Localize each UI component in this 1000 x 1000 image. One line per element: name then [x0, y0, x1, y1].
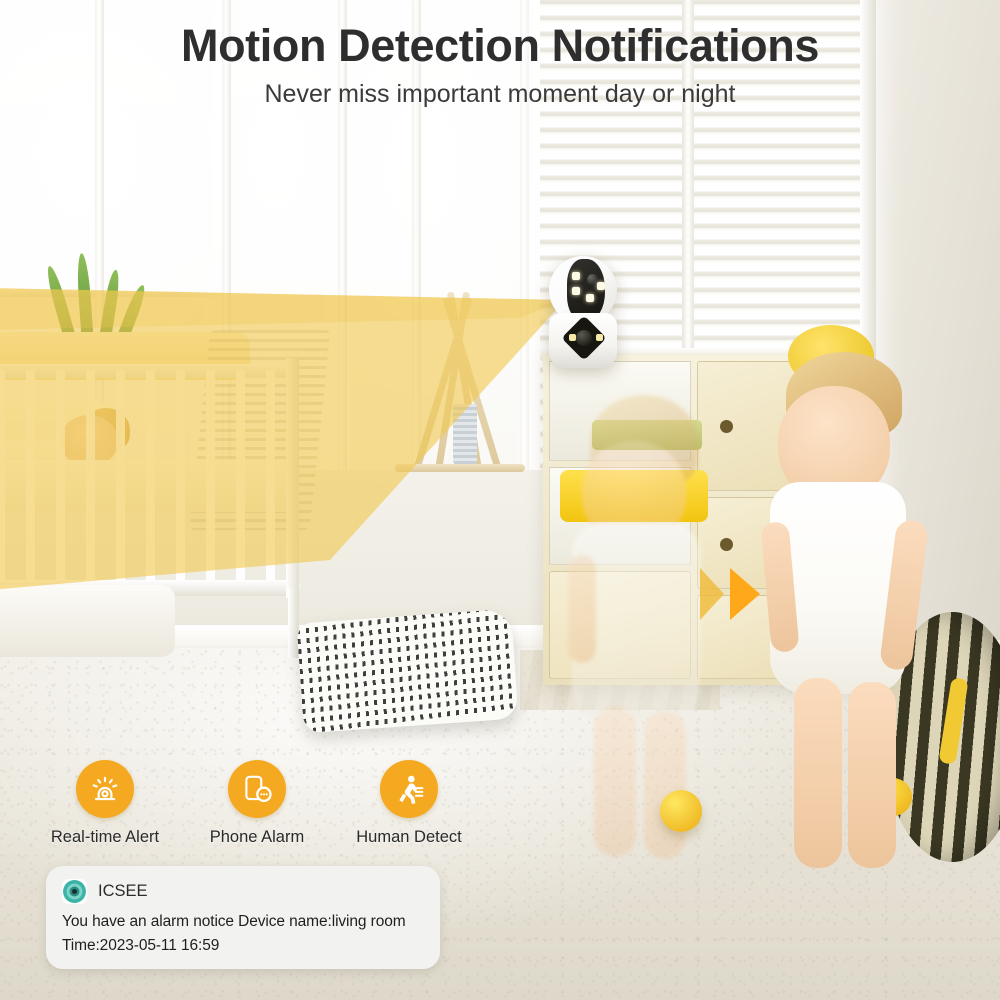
pan-tilt-security-camera — [541, 256, 625, 368]
feature-icon-badge — [380, 760, 438, 818]
feature-label: Phone Alarm — [210, 828, 304, 847]
teepee-tent — [395, 280, 525, 470]
crib-storage-drawer — [0, 585, 175, 657]
feature-label: Human Detect — [356, 828, 461, 847]
walking-toddler — [760, 352, 975, 882]
feature-human-detect[interactable]: Human Detect — [344, 760, 474, 847]
page-subtitle: Never miss important moment day or night — [0, 80, 1000, 109]
double-chevron-motion-icon — [700, 568, 785, 624]
camera-led — [572, 272, 580, 280]
feature-real-time-alert[interactable]: Real-time Alert — [40, 760, 170, 847]
notification-app-name: ICSEE — [98, 882, 148, 901]
camera-lens-icon — [62, 879, 87, 904]
chevron-floor-cushion — [296, 609, 518, 734]
feature-label: Real-time Alert — [51, 828, 159, 847]
camera-led — [569, 334, 576, 341]
running-person-icon — [392, 772, 426, 806]
camera-led — [586, 294, 594, 302]
camera-led — [597, 282, 605, 290]
feature-list: Real-time Alert Phone Alarm — [40, 760, 474, 847]
headline-block: Motion Detection Notifications Never mis… — [0, 22, 1000, 109]
siren-icon — [88, 772, 122, 806]
notification-header: ICSEE — [62, 879, 424, 904]
app-icon — [62, 879, 87, 904]
feature-icon-badge — [76, 760, 134, 818]
notification-message: You have an alarm notice Device name:liv… — [62, 913, 424, 931]
camera-led — [596, 334, 603, 341]
push-notification-card[interactable]: ICSEE You have an alarm notice Device na… — [46, 866, 440, 969]
camera-led — [572, 287, 580, 295]
feature-phone-alarm[interactable]: Phone Alarm — [192, 760, 322, 847]
feature-icon-badge — [228, 760, 286, 818]
phone-alert-icon — [240, 772, 274, 806]
notification-time: Time:2023-05-11 16:59 — [62, 937, 424, 955]
motion-blur-toddler — [560, 395, 735, 865]
yellow-ball — [660, 790, 702, 832]
camera-second-lens — [576, 330, 592, 346]
promo-scene: Motion Detection Notifications Never mis… — [0, 0, 1000, 1000]
page-title: Motion Detection Notifications — [0, 22, 1000, 71]
